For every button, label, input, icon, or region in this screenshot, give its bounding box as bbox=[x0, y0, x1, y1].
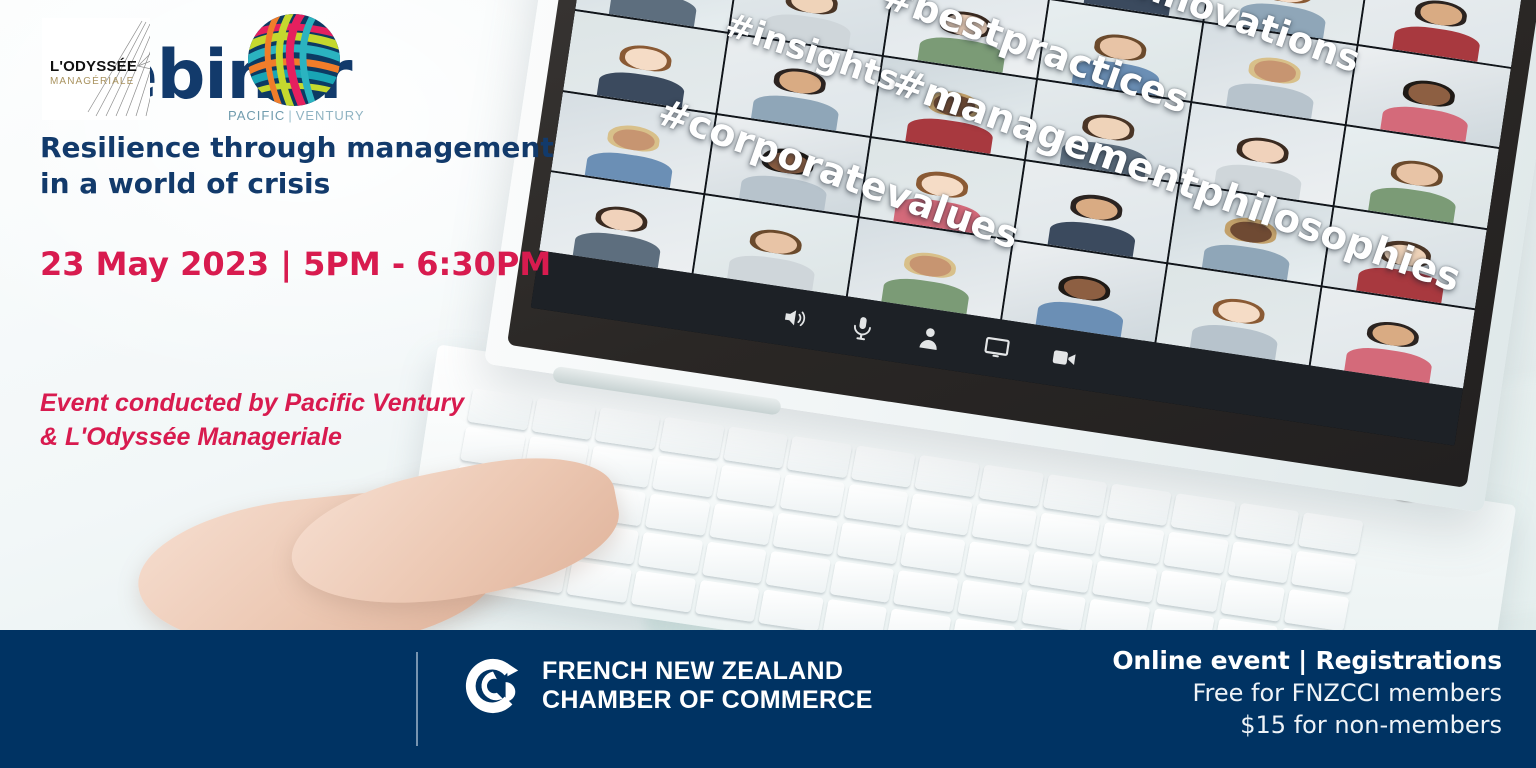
participants-icon[interactable] bbox=[915, 323, 945, 353]
keyboard-key bbox=[1291, 551, 1356, 593]
pacific-ventury-wordmark: PACIFIC|VENTURY bbox=[228, 108, 358, 123]
speaker-icon[interactable] bbox=[780, 303, 810, 333]
ventury-word: VENTURY bbox=[296, 108, 365, 123]
fnzcci-wordmark: FRENCH NEW ZEALAND CHAMBER OF COMMERCE bbox=[542, 657, 873, 715]
keyboard-key bbox=[822, 599, 887, 632]
keyboard-key bbox=[1021, 589, 1086, 631]
event-subtitle: Resilience through management in a world… bbox=[40, 130, 600, 203]
keyboard-key bbox=[1284, 589, 1349, 631]
keyboard-key bbox=[766, 551, 831, 593]
fnzcci-line-1: FRENCH NEW ZEALAND bbox=[542, 657, 873, 686]
logo-odyssee-manageriale: L'ODYSSÉE MANAGÉRIALE bbox=[42, 18, 150, 120]
event-conductor: Event conducted by Pacific Ventury & L'O… bbox=[40, 387, 640, 455]
event-datetime: 23 May 2023 | 5PM - 6:30PM bbox=[40, 245, 640, 283]
cci-mark-icon bbox=[462, 655, 524, 717]
keyboard-key bbox=[844, 484, 909, 526]
fnzcci-line-2: CHAMBER OF COMMERCE bbox=[542, 686, 873, 715]
pacific-word: PACIFIC bbox=[228, 108, 285, 123]
keyboard-key bbox=[893, 570, 958, 612]
microphone-icon[interactable] bbox=[848, 313, 878, 343]
registration-info: Online event | Registrations Free for FN… bbox=[1112, 646, 1502, 739]
keyboard-key bbox=[837, 522, 902, 564]
screen-share-icon[interactable] bbox=[982, 333, 1012, 363]
registration-headline: Online event | Registrations bbox=[1112, 646, 1502, 675]
banner-divider bbox=[416, 652, 418, 746]
subtitle-line-2: in a world of crisis bbox=[40, 166, 600, 202]
keyboard-key bbox=[1099, 522, 1164, 564]
keyboard-key bbox=[1092, 560, 1157, 602]
logo-pacific-ventury: PACIFIC|VENTURY bbox=[228, 14, 358, 126]
keyboard-key bbox=[965, 541, 1030, 583]
keyboard-key bbox=[908, 493, 973, 535]
keyboard-key bbox=[780, 474, 845, 516]
keyboard-key bbox=[773, 513, 838, 555]
video-camera-icon[interactable] bbox=[1049, 343, 1079, 373]
globe-icon bbox=[248, 14, 340, 106]
subtitle-line-1: Resilience through management bbox=[40, 130, 600, 166]
keyboard-key bbox=[830, 561, 895, 603]
odyssee-name: L'ODYSSÉE bbox=[50, 58, 137, 75]
keyboard-key bbox=[972, 503, 1037, 545]
keyboard-key bbox=[1028, 551, 1093, 593]
keyboard-key bbox=[957, 580, 1022, 622]
pacific-separator: | bbox=[288, 108, 292, 123]
keyboard-key bbox=[1220, 580, 1285, 622]
registration-nonmembers: $15 for non-members bbox=[1112, 711, 1502, 739]
keyboard-key bbox=[901, 532, 966, 574]
odyssee-subtitle: MANAGÉRIALE bbox=[50, 76, 134, 87]
keyboard-key bbox=[1163, 532, 1228, 574]
registration-members: Free for FNZCCI members bbox=[1112, 679, 1502, 707]
keyboard-key bbox=[1227, 541, 1292, 583]
video-call-screen: #insights#bestpractices#innovations#corp… bbox=[531, 0, 1523, 446]
keyboard-key bbox=[1036, 512, 1101, 554]
conductor-line-1: Event conducted by Pacific Ventury bbox=[40, 387, 640, 421]
keyboard-key bbox=[1085, 599, 1150, 632]
keyboard-key bbox=[1149, 608, 1214, 632]
conductor-line-2: & L'Odyssée Manageriale bbox=[40, 421, 640, 455]
logo-fnzcci: FRENCH NEW ZEALAND CHAMBER OF COMMERCE bbox=[462, 655, 873, 717]
keyboard-key bbox=[1156, 570, 1221, 612]
keyboard-key bbox=[886, 608, 951, 632]
webinar-promo-poster: #insights#bestpractices#innovations#corp… bbox=[0, 0, 1536, 768]
typing-hands bbox=[120, 440, 740, 632]
